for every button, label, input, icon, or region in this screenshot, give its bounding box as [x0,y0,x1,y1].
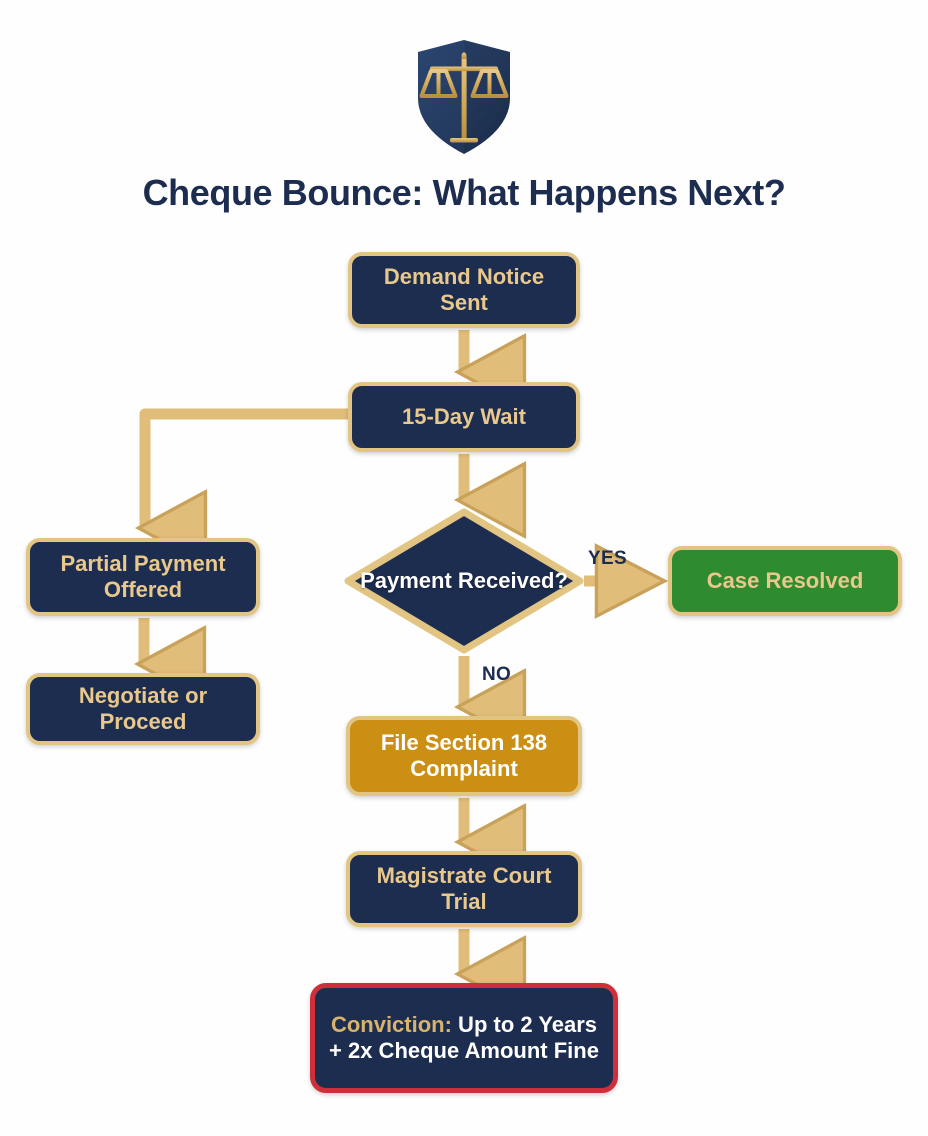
node-conviction-penalty[interactable]: Conviction: Up to 2 Years + 2x Cheque Am… [310,983,618,1093]
node-magistrate-court-trial[interactable]: Magistrate Court Trial [346,851,582,927]
branch-label-yes: YES [588,548,627,570]
node-case-resolved[interactable]: Case Resolved [668,546,902,616]
node-negotiate-or-proceed[interactable]: Negotiate or Proceed [26,673,260,745]
node-demand-notice-sent[interactable]: Demand Notice Sent [348,252,580,328]
page-title: Cheque Bounce: What Happens Next? [0,172,928,214]
decision-label: Payment Received? [344,508,584,654]
conviction-text: Conviction: Up to 2 Years + 2x Cheque Am… [325,1012,603,1064]
node-15-day-wait[interactable]: 15-Day Wait [348,382,580,452]
node-payment-received-decision[interactable]: Payment Received? [344,508,584,654]
conviction-lead-label: Conviction: [331,1012,452,1037]
node-partial-payment-offered[interactable]: Partial Payment Offered [26,538,260,616]
flowchart-canvas: Cheque Bounce: What Happens Next? [0,0,928,1136]
branch-label-no: NO [482,664,511,686]
edge-wait-to-partial [145,414,348,528]
legal-shield-scales-icon [414,38,514,156]
node-file-section-138-complaint[interactable]: File Section 138 Complaint [346,716,582,796]
